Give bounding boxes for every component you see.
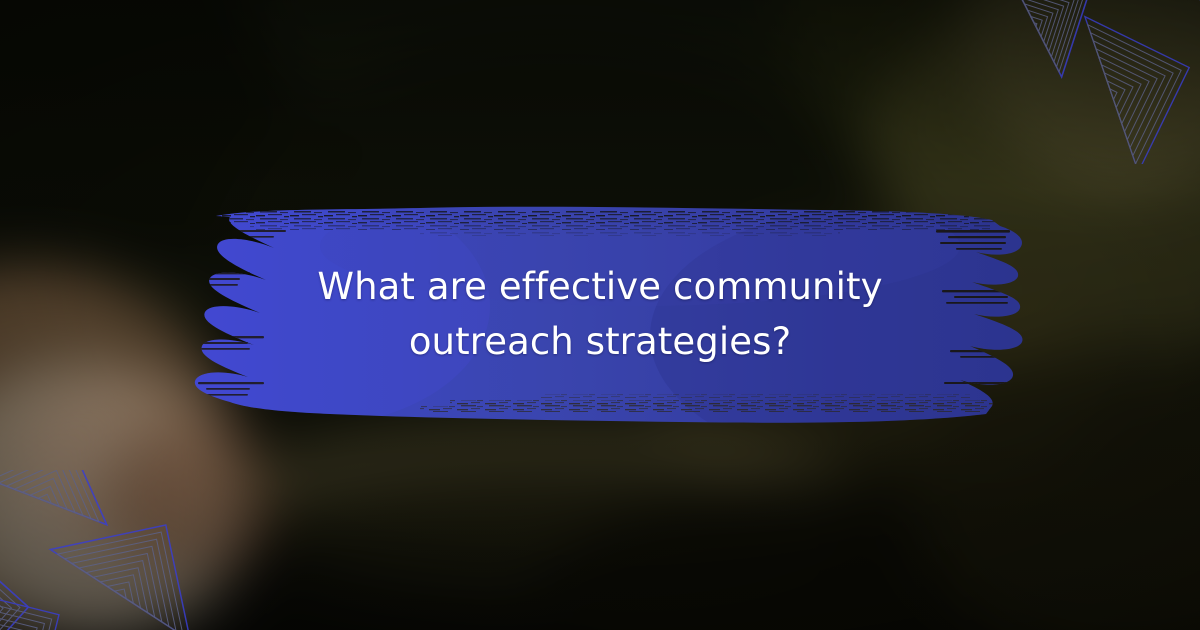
page-title: What are effective community outreach st… (250, 260, 950, 370)
social-card: What are effective community outreach st… (0, 0, 1200, 630)
headline-container: What are effective community outreach st… (150, 196, 1050, 434)
